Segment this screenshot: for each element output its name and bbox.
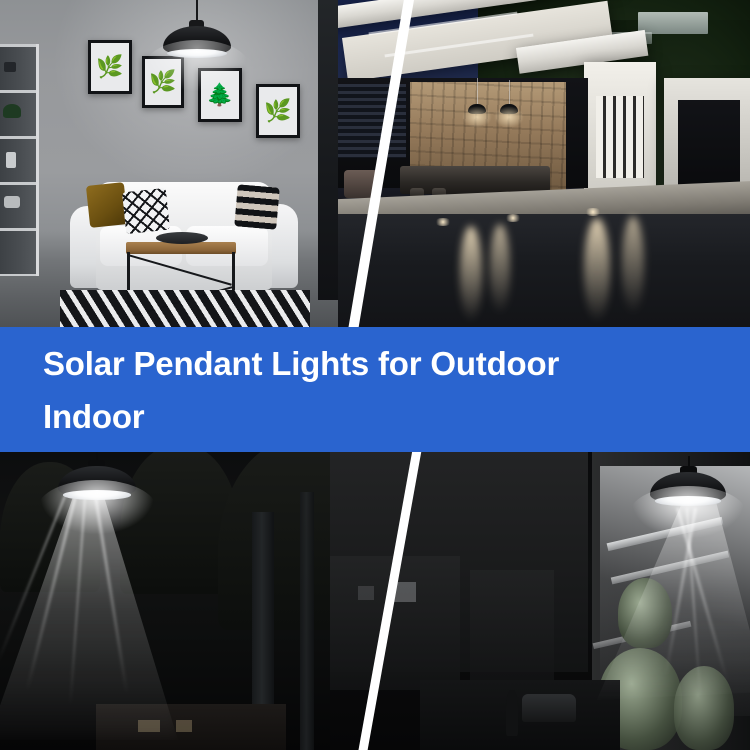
wall-frame: 🌿 (142, 56, 184, 108)
climbing-plant (618, 578, 672, 648)
headline-line-2: Indoor (43, 390, 713, 443)
shrub (674, 666, 734, 750)
pendant-lamp-icon (468, 78, 486, 114)
pool-reflection (490, 224, 510, 314)
house-window (138, 720, 160, 732)
wall-frame: 🌲 (198, 68, 242, 122)
low-building (470, 570, 554, 690)
pool-reflection (460, 226, 482, 322)
alley-street (420, 680, 620, 750)
glass-door-opening (678, 100, 740, 186)
throw-pillow-diamond (122, 188, 170, 234)
throw-pillow-gold (86, 182, 128, 228)
building-window (358, 586, 374, 600)
lamp-glow (494, 106, 524, 128)
lamp-cord (196, 0, 198, 22)
deck-uplight (584, 208, 602, 216)
leaf-art: 🌿 (149, 71, 176, 93)
leaf-art: 🌿 (264, 100, 291, 122)
wall-frame: 🌿 (88, 40, 132, 94)
distant-house (638, 12, 708, 34)
headline-banner: Solar Pendant Lights for Outdoor Indoor (0, 327, 750, 452)
deck-uplight (434, 218, 452, 226)
headline-line-1: Solar Pendant Lights for Outdoor (43, 337, 713, 390)
leaf-art: 🌿 (96, 56, 123, 78)
shelf-object (4, 62, 16, 72)
lamp-glow (462, 106, 492, 128)
shelf-object (4, 196, 20, 208)
pedestrian-silhouette (506, 690, 518, 736)
deck-uplight (504, 214, 522, 222)
throw-pillow-stripe (234, 184, 280, 230)
shelf-object (6, 152, 16, 168)
headline-text-block: Solar Pendant Lights for Outdoor Indoor (43, 327, 713, 452)
pendant-lamp-icon (500, 80, 518, 114)
slat-screen (596, 96, 644, 178)
infinity-pool (338, 214, 750, 330)
leaf-art: 🌲 (206, 84, 233, 106)
shelf-plant (3, 104, 21, 118)
serving-bowl (156, 232, 208, 244)
pool-reflection (622, 216, 644, 314)
tree-trunk (300, 492, 314, 750)
house-window (176, 720, 192, 732)
pendant-lamp-icon (58, 466, 136, 498)
area-rug (60, 290, 310, 330)
pool-reflection (584, 218, 610, 322)
wall-frame: 🌿 (256, 84, 300, 138)
product-banner-image: 🌿 🌿 🌲 🌿 (0, 0, 750, 750)
parked-car (522, 694, 576, 722)
